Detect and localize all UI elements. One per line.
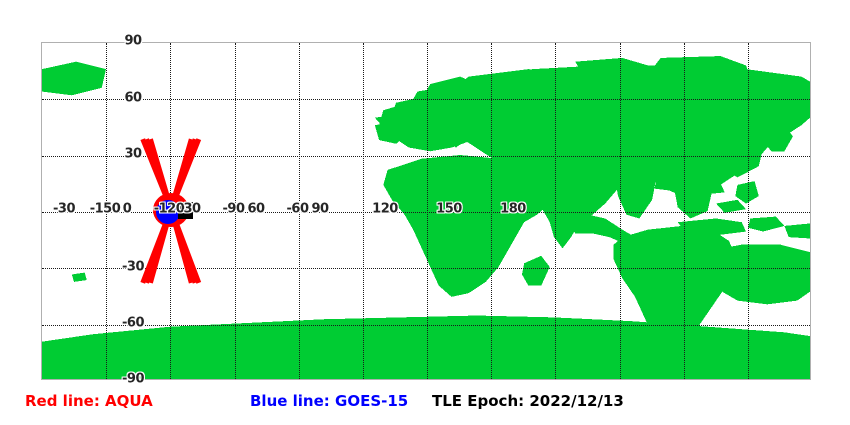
satellite-ground-track-map: -150 -120 -90 -60 -30 0 30 60 90 120 150… [0, 0, 850, 425]
world-map-plot-area [41, 42, 811, 380]
legend: Red line: AQUA Blue line: GOES-15 TLE Ep… [0, 392, 850, 425]
goes-15-marker [156, 200, 180, 224]
legend-blue-line-goes15: Blue line: GOES-15 [250, 392, 408, 410]
legend-tle-epoch: TLE Epoch: 2022/12/13 [432, 392, 624, 410]
legend-red-line-aqua: Red line: AQUA [25, 392, 153, 410]
observer-square-marker [178, 202, 193, 219]
